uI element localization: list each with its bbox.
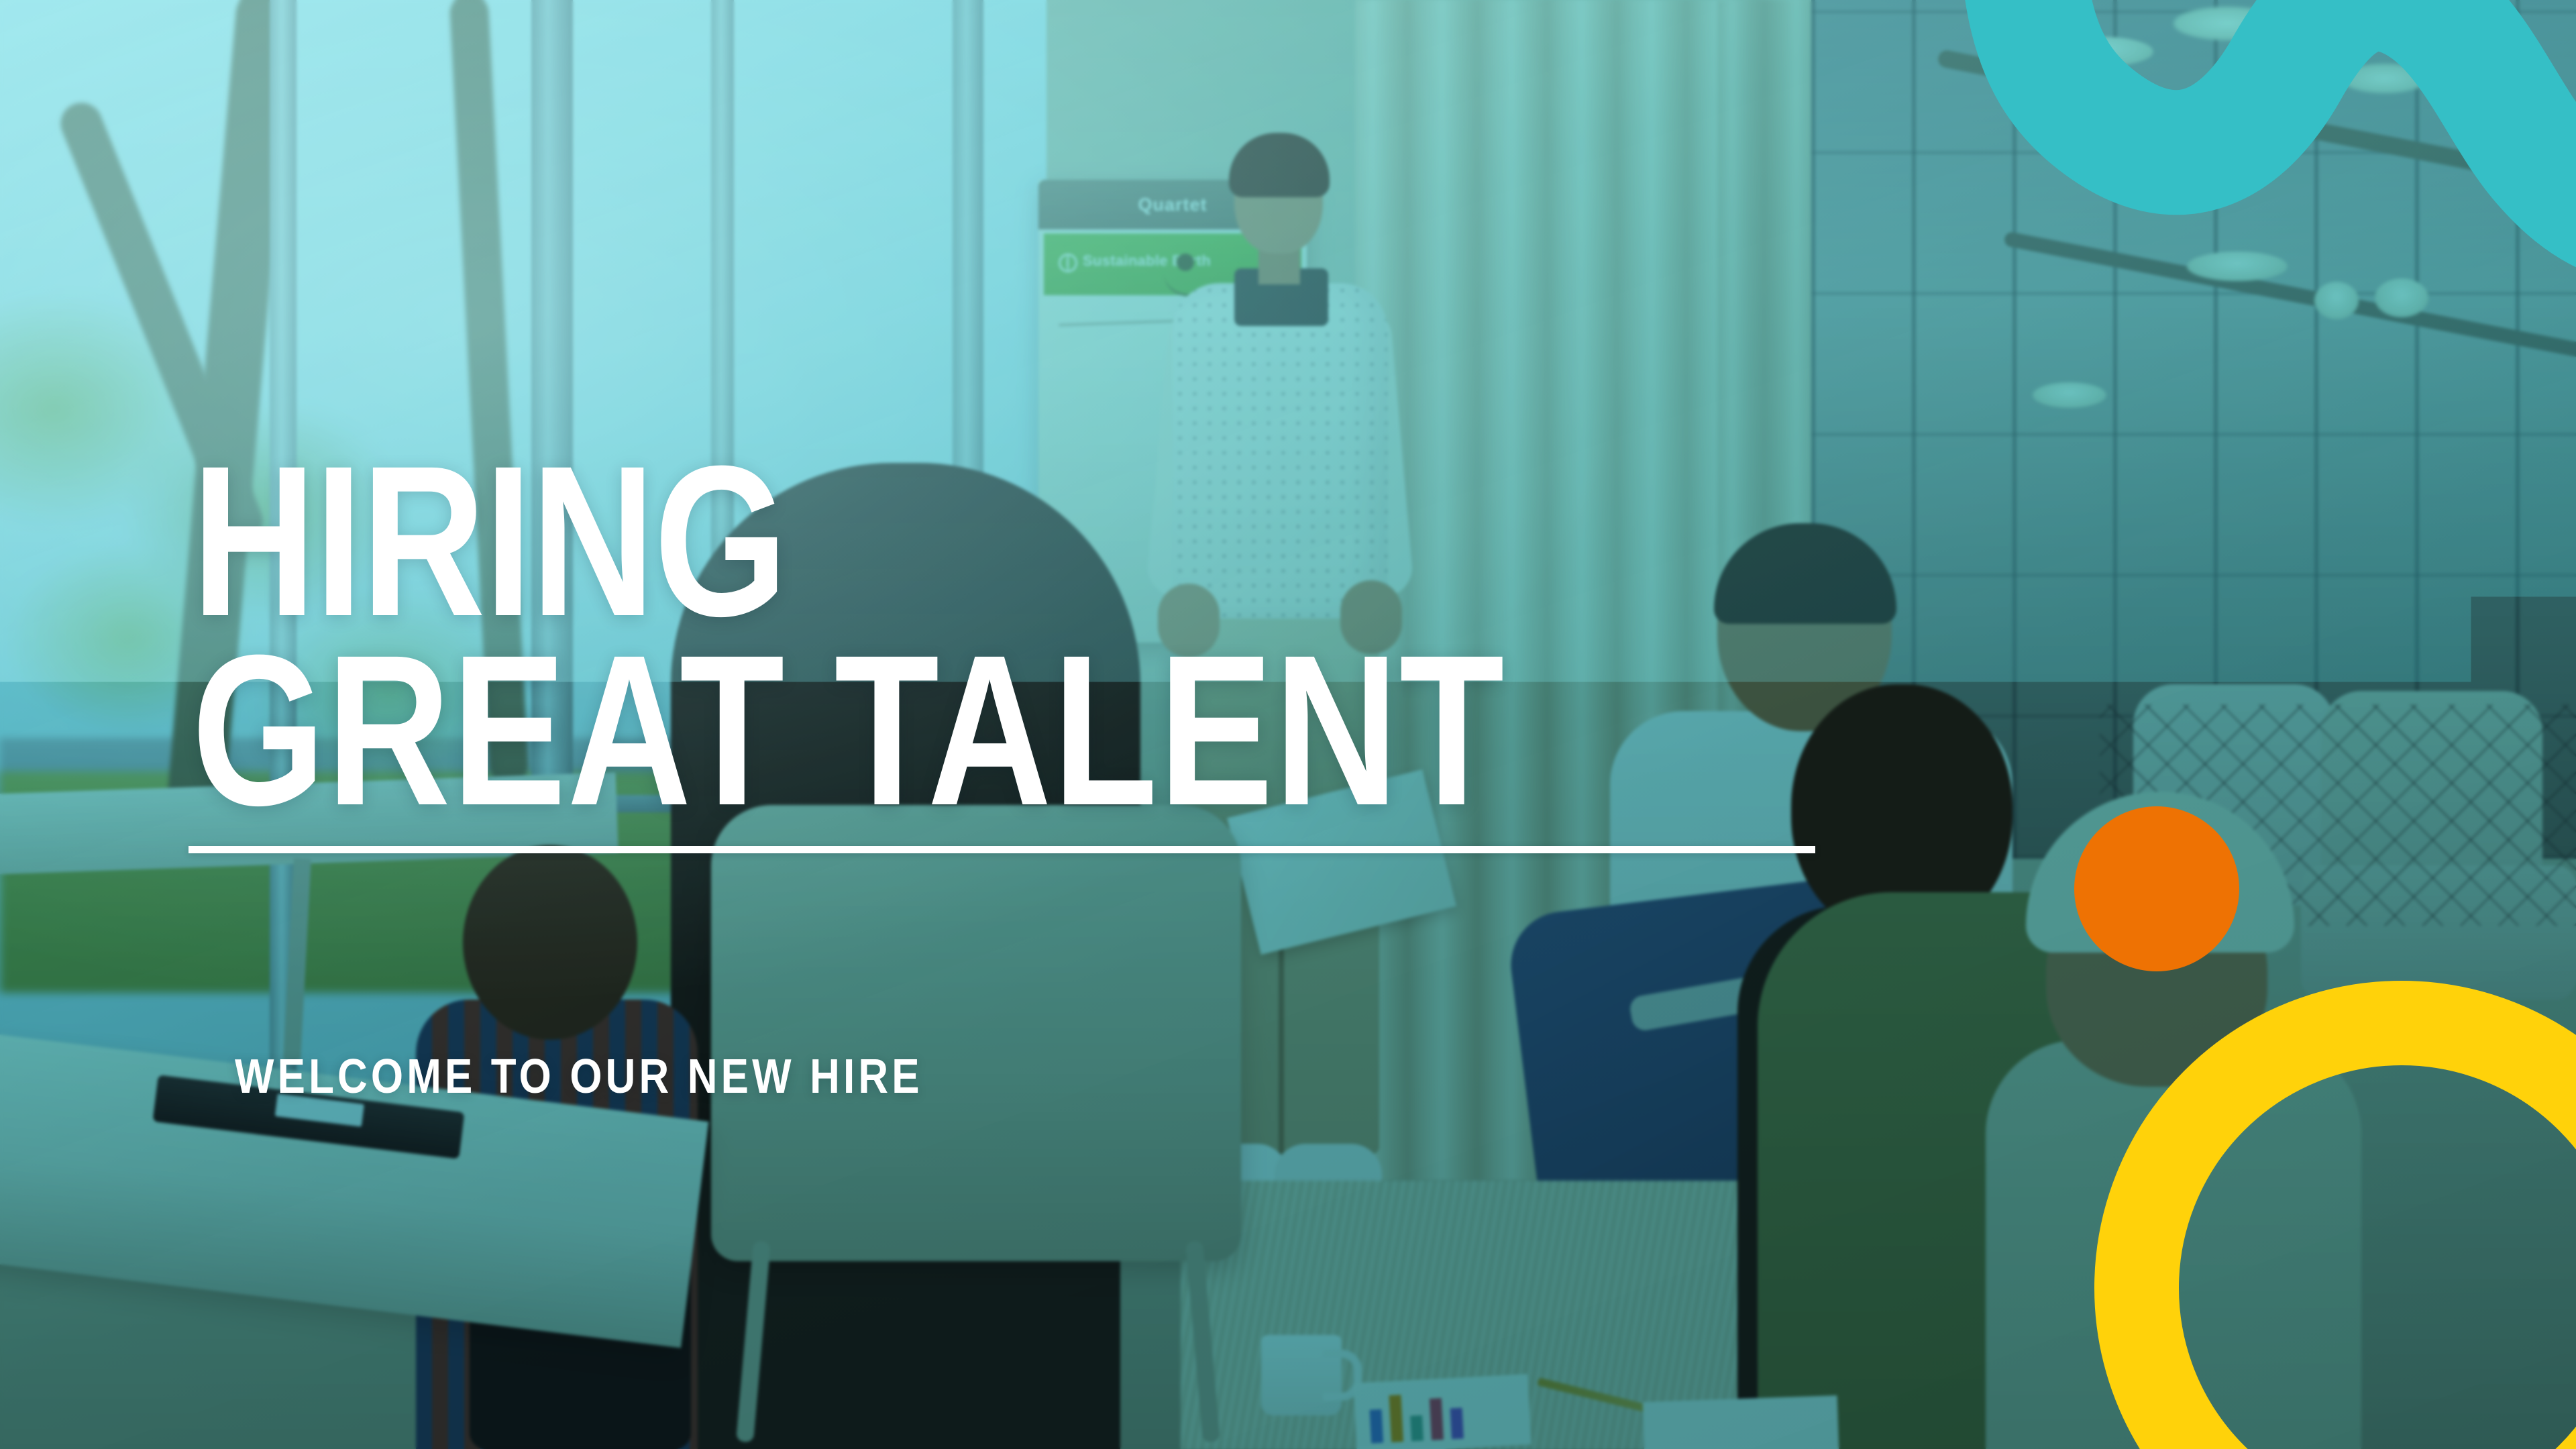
page-title: HIRING GREAT TALENT bbox=[192, 447, 1505, 824]
hiring-poster: Quartet Sustainable Earth bbox=[0, 0, 2576, 1449]
divider-rule bbox=[189, 846, 1815, 853]
headline-line-2: GREAT TALENT bbox=[192, 636, 1505, 825]
poster-content: HIRING GREAT TALENT WELCOME TO OUR NEW H… bbox=[0, 0, 2576, 1449]
subheadline: WELCOME TO OUR NEW HIRE bbox=[235, 1049, 923, 1104]
headline-line-1: HIRING bbox=[192, 447, 1505, 636]
